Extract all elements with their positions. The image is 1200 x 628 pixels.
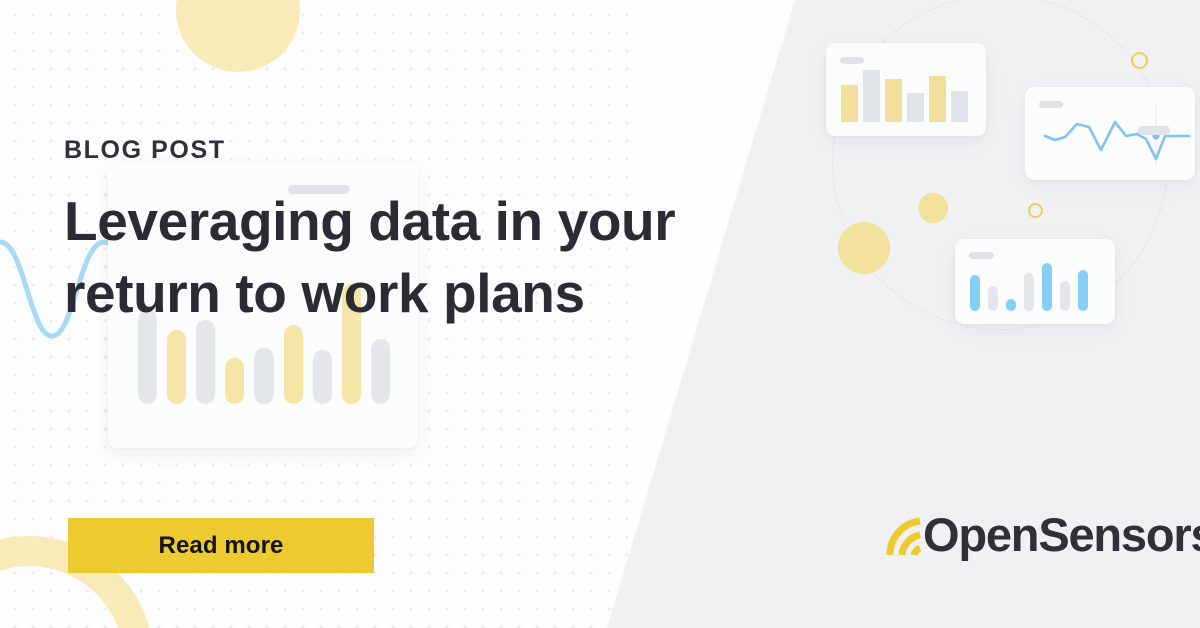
bar-chart-bottom-right bbox=[970, 263, 1102, 311]
line-chart-tooltip bbox=[1138, 126, 1170, 135]
bar bbox=[225, 358, 244, 404]
bar bbox=[1078, 270, 1088, 311]
chart-card-top-right bbox=[826, 43, 986, 136]
bar bbox=[1060, 281, 1070, 311]
bar bbox=[254, 348, 273, 404]
bar bbox=[885, 79, 902, 122]
bar bbox=[841, 85, 858, 122]
yellow-ring-top-icon bbox=[1131, 52, 1148, 69]
eyebrow-label: BLOG POST bbox=[64, 138, 724, 163]
line-chart bbox=[1025, 87, 1195, 180]
bar-chart-top-right bbox=[841, 70, 971, 122]
bar bbox=[371, 339, 390, 404]
brand-logo[interactable]: OpenSensors bbox=[880, 505, 1200, 557]
chart-card-bottom-right bbox=[955, 239, 1115, 324]
yellow-dot-large-icon bbox=[838, 222, 890, 274]
bar bbox=[970, 275, 980, 311]
bar bbox=[167, 330, 186, 404]
bar bbox=[907, 93, 924, 122]
bar bbox=[929, 76, 946, 122]
chart-card-line bbox=[1025, 87, 1195, 180]
yellow-dot-small-icon bbox=[918, 193, 948, 223]
bar bbox=[284, 325, 303, 404]
read-more-button[interactable]: Read more bbox=[68, 518, 374, 573]
bar bbox=[1042, 263, 1052, 311]
bar bbox=[313, 350, 332, 404]
page-title: Leveraging data in your return to work p… bbox=[64, 185, 724, 329]
bar bbox=[1024, 273, 1034, 311]
bar bbox=[1006, 299, 1016, 311]
signal-arc-icon bbox=[880, 505, 926, 557]
card-title-placeholder bbox=[969, 252, 994, 259]
brand-name: OpenSensors bbox=[923, 513, 1200, 557]
headline-block: BLOG POST Leveraging data in your return… bbox=[64, 138, 724, 329]
bar bbox=[196, 320, 215, 404]
bar bbox=[863, 70, 880, 122]
bar bbox=[951, 91, 968, 122]
card-title-placeholder bbox=[840, 57, 864, 64]
yellow-ring-mid-icon bbox=[1028, 203, 1043, 218]
bar bbox=[988, 286, 998, 311]
blog-post-banner: BLOG POST Leveraging data in your return… bbox=[0, 0, 1200, 628]
